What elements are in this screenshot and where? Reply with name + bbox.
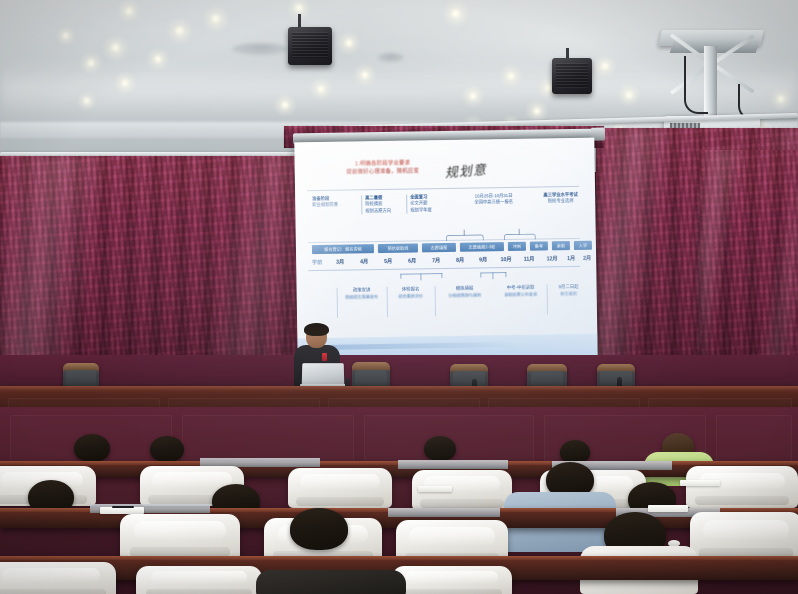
downlight-icon [626,92,632,98]
phase-line: 院校专业选择 [534,198,587,205]
downlight-icon [112,44,119,51]
phase-line: 全国中高三统一报名 [460,199,527,206]
timeline-tag: 志愿填报 [422,243,456,253]
downlight-icon [452,10,459,17]
note-line: 录取结果公布查询 [495,291,547,298]
downlight-icon [122,80,128,86]
chair-frame [450,364,488,371]
month-label: 3月 [330,258,350,268]
downlight-icon [63,33,68,38]
table-top-edge [0,386,798,391]
notebook [100,507,144,514]
brace-stem [441,273,442,278]
note-line: 院校招生简章发布 [339,294,385,301]
curtain-sheen [700,150,798,360]
month-label: 5月 [378,257,398,267]
timeline-tag: 冲刺 [508,242,526,251]
slide-note: 政策宣讲 院校招生简章发布 [339,287,385,301]
month-label: 11月 [518,255,540,265]
slide-note: 体检报名 综合素质评价 [389,286,433,300]
timeline-tag: 预估录取线 [378,243,418,253]
brace-stem [400,274,401,279]
downlight-icon [602,63,608,69]
attendee-head [150,436,184,462]
downlight-icon [176,27,183,34]
timeline-tag: 备考 [530,241,548,250]
ceiling-vent-icon [232,43,288,55]
auditorium-seat [686,466,798,508]
slide-phase-col: 高二暑假 院校摸底 规划志愿方向 [361,195,401,215]
downlight-icon [282,102,288,108]
attendee-torso [256,570,406,594]
timeline-tag: 报名登记：报名资格 [312,244,374,254]
brace-stem [420,273,421,280]
ceiling-speaker-icon [552,58,592,94]
auditorium-seat [0,562,116,594]
slide-footer-bar [311,342,521,350]
note-line: 分档线预测与调剂 [437,292,493,299]
notebook [418,486,452,492]
stage-curtain-far-right [700,150,798,360]
chair-frame [597,364,635,371]
timeline-tag: 入学 [574,241,592,250]
ceiling-speaker-icon [288,27,332,65]
speaker-grille [556,63,588,88]
timeline-brace-stem [519,229,520,235]
phase-line: 职业规划完善 [312,202,355,209]
month-label: 4月 [354,257,374,267]
phase-line: 规划学年度 [410,207,450,214]
slide-handwriting: 规划意 [444,159,487,182]
attendee-head [290,508,348,550]
curtain-sheen [0,156,300,360]
desk-surface [388,508,500,517]
slide-note: 中考-中招录取 录取结果公布查询 [495,284,547,298]
downlight-icon [84,98,89,103]
slide-note-row: 政策宣讲 院校招生简章发布 体检报名 综合素质评价 模拟填报 分档线预测与调剂 … [311,284,584,324]
attendee-head [74,434,110,462]
auditorium-seat [392,566,512,594]
downlight-icon [534,108,540,114]
month-label: 9月 [473,255,493,265]
month-label: 8月 [450,256,470,266]
note-line: 新生报到 [549,290,589,297]
downlight-icon [318,86,324,92]
auditorium-seat [136,566,262,594]
notebook [648,505,688,512]
timeline-tag: 志愿填报2-3轮 [460,242,504,252]
pen [112,506,134,508]
downlight-icon [212,15,219,22]
slide-phase-col: 全面复习 论文开题 规划学年度 [406,194,450,214]
slide-note: 模拟填报 分档线预测与调剂 [437,285,493,299]
slide-title: 1.明确各阶段学业要求 提前做好心理准备，随机应变 [325,159,441,177]
desk-edge [0,556,798,560]
brace-stem [480,272,481,277]
slide-phase-col: 准备阶段 职业规划完善 [309,195,355,209]
timeline-lower-brace [480,272,506,280]
desk-surface [398,460,508,469]
slide-note: 9月二日起 新生报到 [549,284,589,298]
downlight-icon [88,60,94,66]
brace-stem [492,272,493,279]
projector-cable [684,56,708,114]
timeline-brace [446,234,484,241]
lecture-hall-photo: 1.明确各阶段学业要求 提前做好心理准备，随机应变 规划意 准备阶段 职业规划完… [0,0,798,594]
speaker-grille [292,32,327,58]
month-label: 7月 [426,256,446,266]
presenter-badge [322,353,327,361]
downlight-icon [508,73,514,79]
downlight-icon [126,8,132,14]
auditorium-seat [120,514,240,560]
slide-phase-col: 10月25日-10月31日 全国中高三统一报名 [457,193,527,207]
speaker-stem [298,14,301,28]
month-label: 6月 [402,256,422,266]
slide-title-line2: 提前做好心理准备，随机应变 [325,167,441,177]
downlight-icon [778,96,784,102]
timeline-brace [504,234,536,241]
glasses-icon [307,334,326,339]
auditorium-seat [690,512,798,562]
month-label: 12月 [541,254,563,264]
chair-frame [352,362,390,370]
slide-title-divider [307,186,579,191]
timeline-brace-stem [464,230,465,236]
slide-phase-row: 准备阶段 职业规划完善 高二暑假 院校摸底 规划志愿方向 全面复习 论文开题 规… [309,192,582,240]
auditorium-seat [288,468,392,508]
timeline-tag: 录取 [552,241,570,250]
phase-line: 规划志愿方向 [365,208,401,215]
ceiling-vent-icon [378,53,404,62]
downlight-icon [362,72,368,78]
slide-phase-col: 高三学业水平考试 院校专业选择 [531,192,587,206]
timeline-lower-brace [400,273,442,282]
downlight-icon [346,40,352,46]
notebook [680,480,720,486]
month-label: 10月 [495,255,517,265]
note-line: 综合素质评价 [389,293,433,300]
month-label: 2月 [578,254,596,264]
chair-seatback [355,370,386,388]
chair-frame [63,363,99,370]
downlight-icon [155,56,161,62]
downlight-icon [296,5,302,11]
downlight-icon [470,93,476,99]
month-label: 学前 [306,258,328,268]
brace-stem [505,272,506,277]
stage-curtain-left [0,156,300,360]
attendee-head [424,436,456,461]
laptop-lid [302,363,345,385]
chair-frame [527,364,567,371]
